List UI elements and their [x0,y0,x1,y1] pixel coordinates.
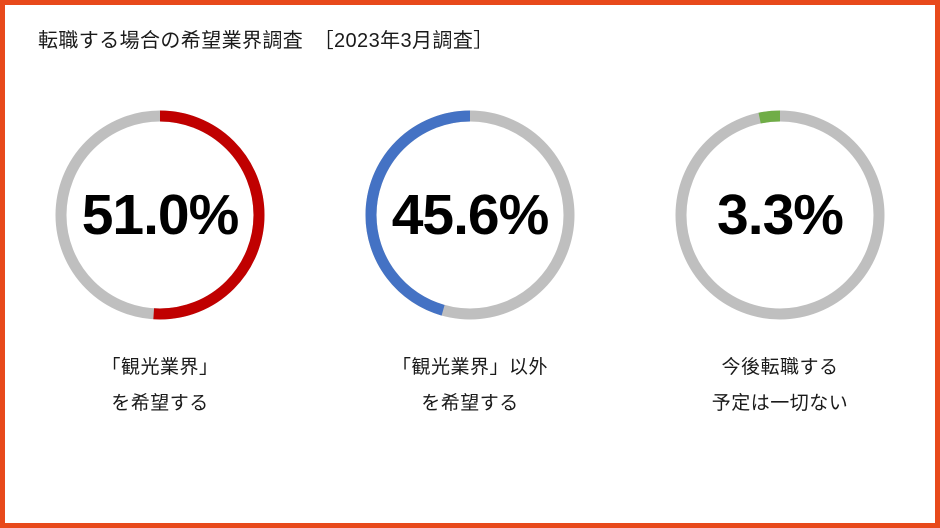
donut-value-3: 3.3% [665,100,895,330]
donut-chart-1: 51.0% 「観光業界」 を希望する [15,100,305,422]
donut-value-1: 51.0% [45,100,275,330]
donut-caption-2: 「観光業界」以外 を希望する [392,350,548,422]
donut-chart-2: 45.6% 「観光業界」以外 を希望する [325,100,615,422]
page-title: 転職する場合の希望業界調査 ［2023年3月調査］ [38,27,494,55]
donut-caption-2-line1: 「観光業界」以外 [392,350,548,386]
donut-caption-1: 「観光業界」 を希望する [101,350,218,422]
donut-ring-1: 51.0% [45,100,275,330]
donut-caption-3-line2: 予定は一切ない [712,386,849,422]
donut-caption-1-line1: 「観光業界」 [101,350,218,386]
donut-caption-1-line2: を希望する [101,386,218,422]
donut-chart-3: 3.3% 今後転職する 予定は一切ない [635,100,925,422]
donut-ring-2: 45.6% [355,100,585,330]
donut-value-2: 45.6% [355,100,585,330]
donut-caption-2-line2: を希望する [392,386,548,422]
donut-ring-3: 3.3% [665,100,895,330]
slide-canvas: 転職する場合の希望業界調査 ［2023年3月調査］ 51.0% 「観光業界」 を… [0,0,940,528]
donut-charts-row: 51.0% 「観光業界」 を希望する 45.6% 「観光業界」以外 を希望する [5,100,935,422]
donut-caption-3: 今後転職する 予定は一切ない [712,350,849,422]
donut-caption-3-line1: 今後転職する [712,350,849,386]
